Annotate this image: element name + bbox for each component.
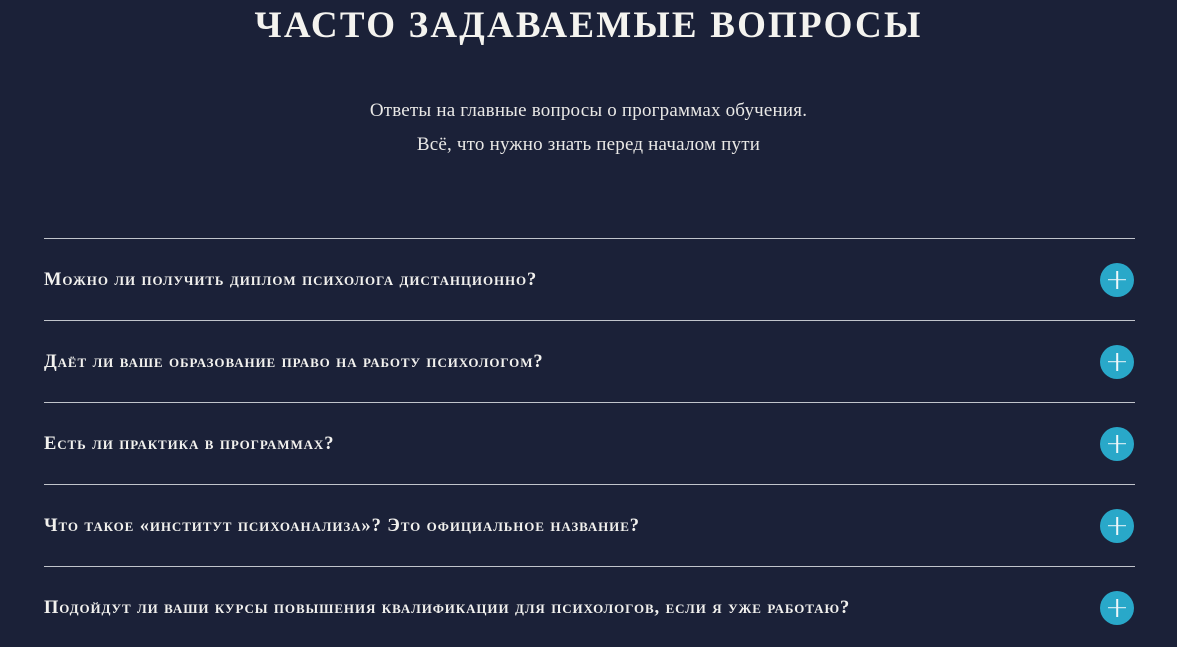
faq-question-label: Что такое «институт психоанализа»? Это о…	[44, 514, 668, 538]
plus-icon[interactable]	[1100, 345, 1134, 379]
faq-item[interactable]: Что такое «институт психоанализа»? Это о…	[44, 485, 1135, 566]
faq-page: Часто задаваемые вопросы Ответы на главн…	[0, 0, 1177, 647]
faq-item[interactable]: Подойдут ли ваши курсы повышения квалифи…	[44, 567, 1135, 647]
faq-question-label: Подойдут ли ваши курсы повышения квалифи…	[44, 596, 878, 620]
faq-item[interactable]: Есть ли практика в программах?	[44, 403, 1135, 484]
faq-question-label: Есть ли практика в программах?	[44, 432, 362, 456]
page-header: Часто задаваемые вопросы Ответы на главн…	[0, 0, 1177, 162]
plus-icon[interactable]	[1100, 263, 1134, 297]
subtitle-line-2: Всё, что нужно знать перед началом пути	[0, 128, 1177, 162]
page-title: Часто задаваемые вопросы	[0, 4, 1177, 48]
plus-icon[interactable]	[1100, 591, 1134, 625]
faq-accordion: Можно ли получить диплом психолога диста…	[44, 238, 1135, 647]
faq-question-label: Можно ли получить диплом психолога диста…	[44, 268, 565, 292]
plus-icon[interactable]	[1100, 427, 1134, 461]
faq-question-label: Даёт ли ваше образование право на работу…	[44, 350, 572, 374]
plus-icon[interactable]	[1100, 509, 1134, 543]
faq-item[interactable]: Можно ли получить диплом психолога диста…	[44, 239, 1135, 320]
subtitle-line-1: Ответы на главные вопросы о программах о…	[0, 94, 1177, 128]
page-subtitle: Ответы на главные вопросы о программах о…	[0, 48, 1177, 162]
faq-item[interactable]: Даёт ли ваше образование право на работу…	[44, 321, 1135, 402]
